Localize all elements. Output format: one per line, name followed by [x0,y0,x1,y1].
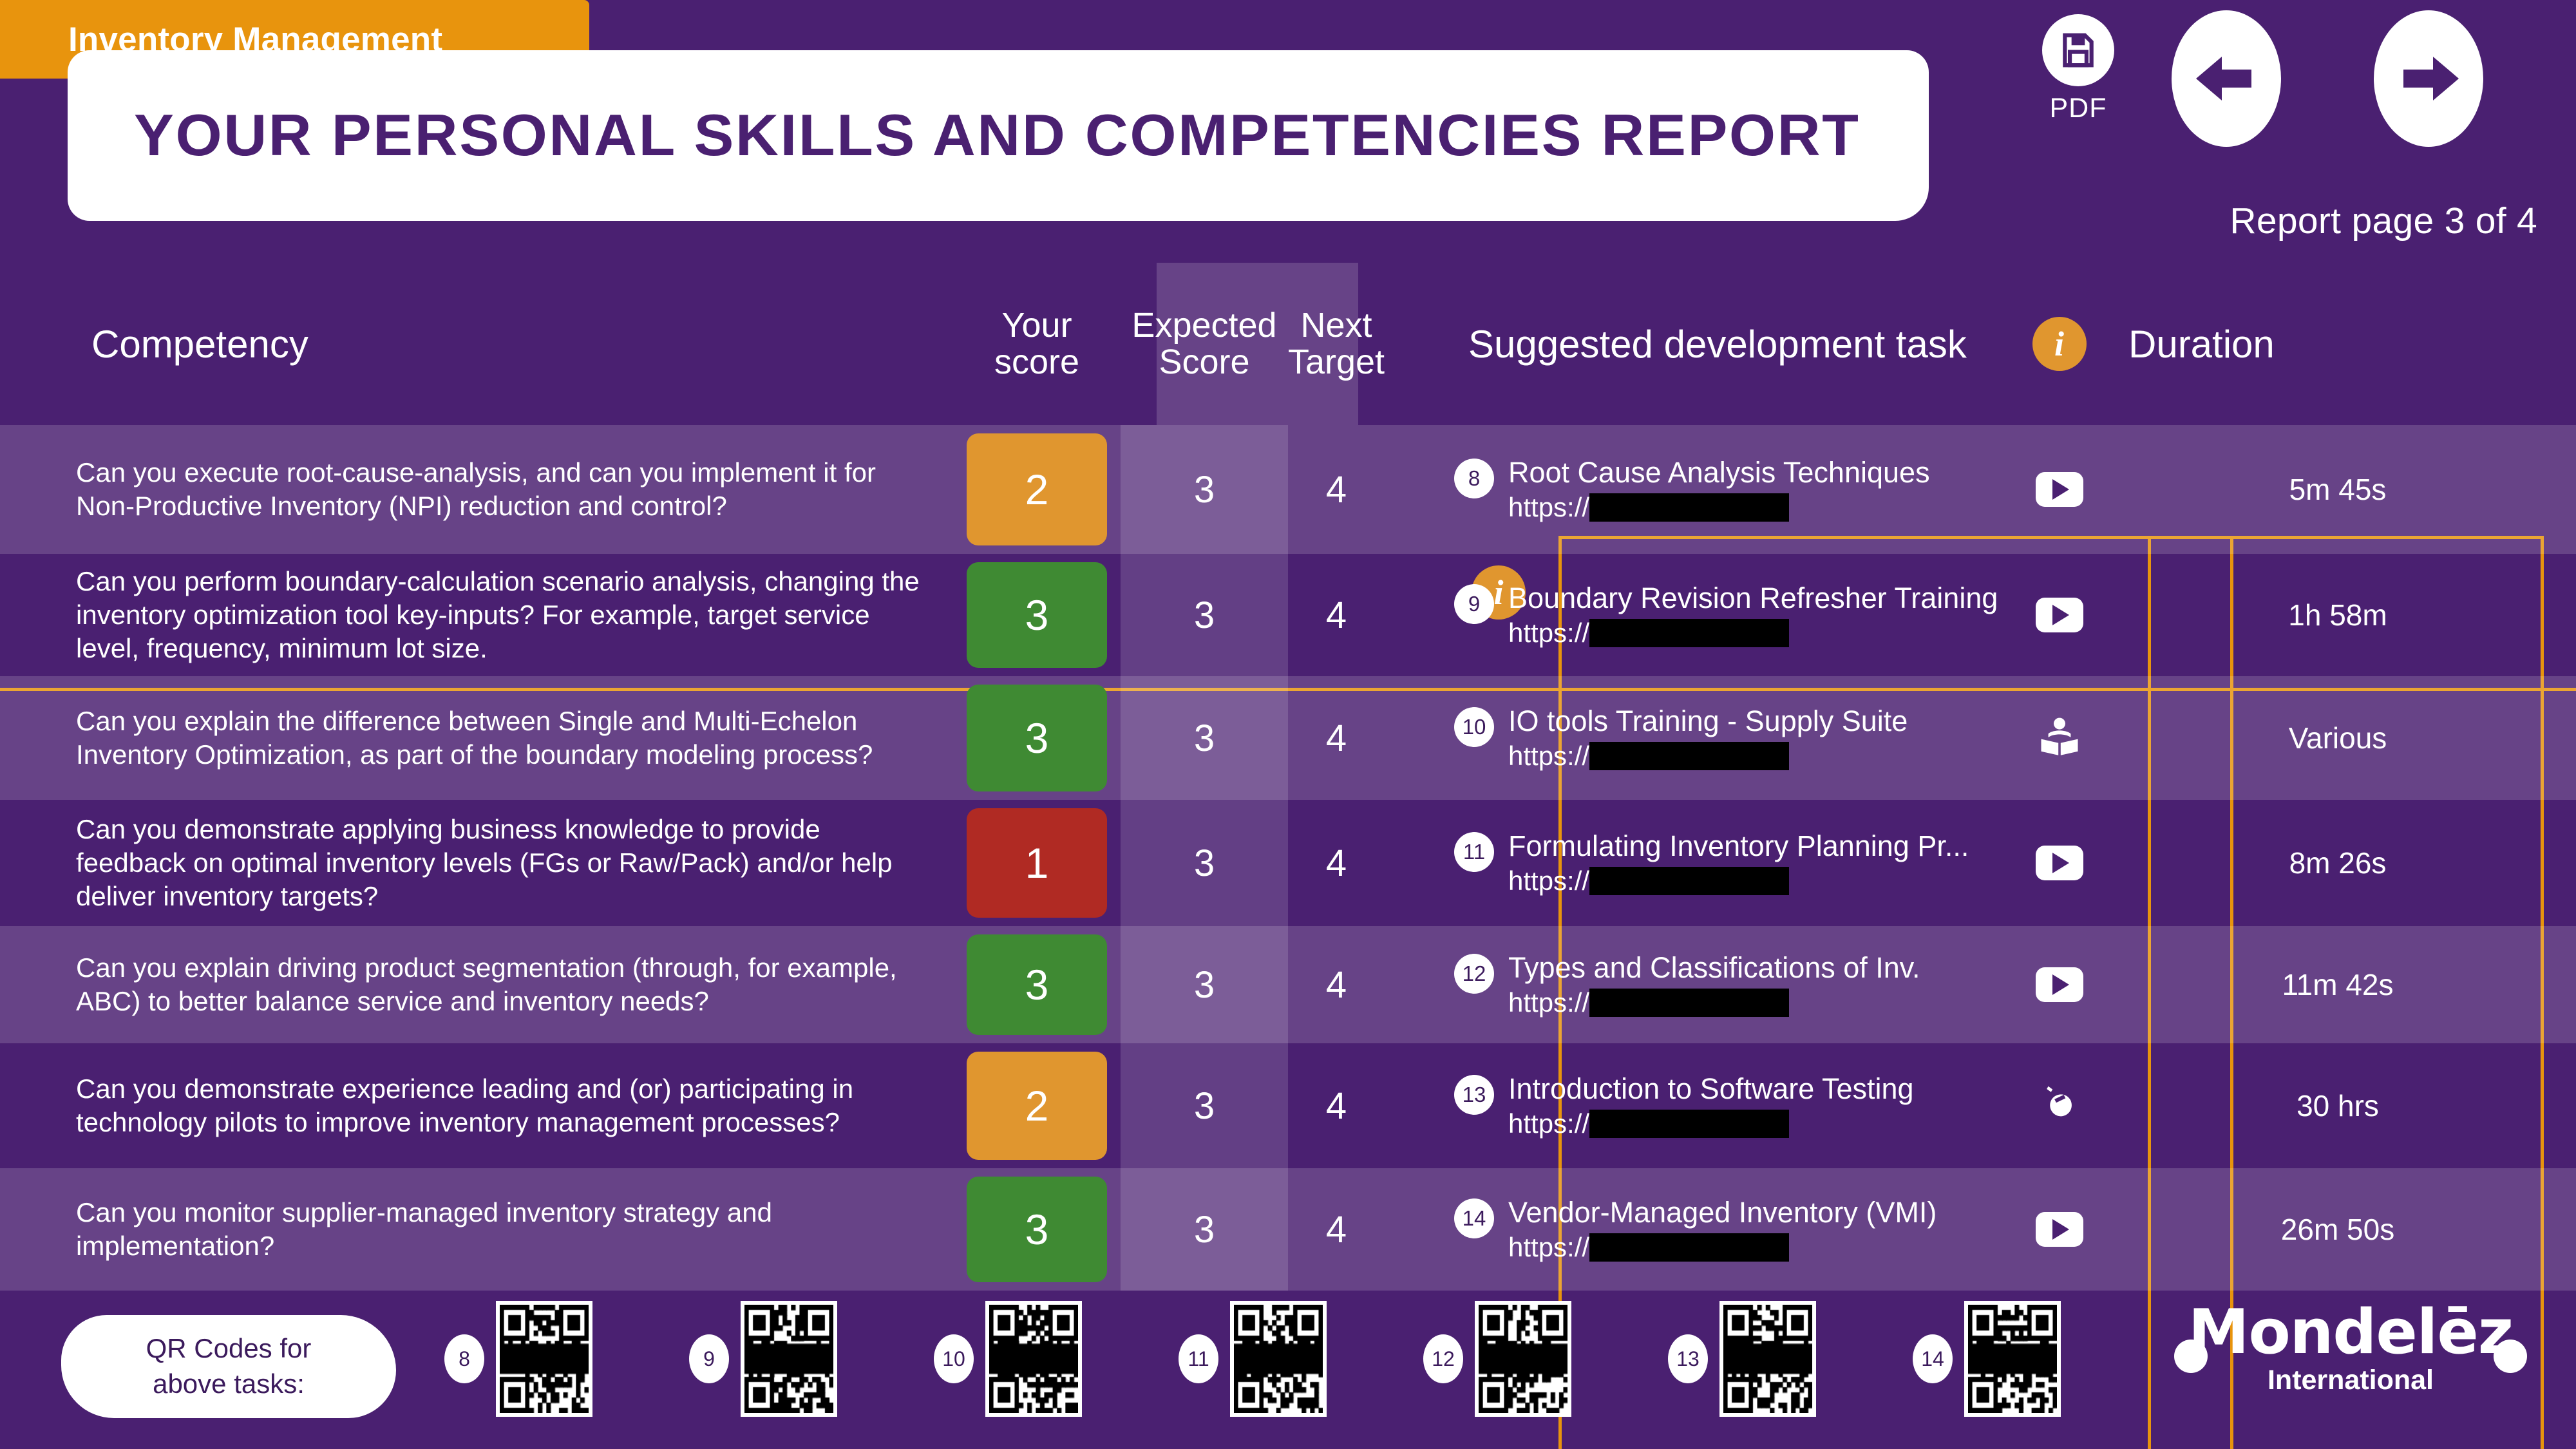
qr-code-image[interactable] [741,1301,837,1417]
column-header-duration: Duration [2099,263,2576,425]
pdf-label: PDF [2017,93,2139,124]
cell-next-target: 4 [1288,1168,1385,1291]
competency-text: Can you perform boundary-calculation sce… [76,565,933,665]
task-url[interactable]: https:// [1508,618,1998,649]
elearning-reader-icon[interactable] [2036,714,2083,763]
task-url-protocol: https:// [1508,1232,1589,1263]
task-url-redaction [1589,493,1789,522]
video-play-icon[interactable] [2036,846,2083,880]
play-triangle [2052,974,2069,995]
cell-duration: 11m 42s [2099,926,2576,1043]
column-header-your-score: Your score [953,263,1121,425]
task-title[interactable]: Root Cause Analysis Techniques [1508,456,1930,489]
cell-task-type [2019,926,2099,1043]
qr-code-item: 8 [444,1301,592,1417]
cell-task[interactable]: 9Boundary Revision Refresher Traininghtt… [1430,554,2019,676]
task-title[interactable]: Introduction to Software Testing [1508,1072,1914,1106]
page-title: YOUR PERSONAL SKILLS AND COMPETENCIES RE… [50,102,1860,169]
cell-task[interactable]: 8Root Cause Analysis Techniqueshttps:// [1430,425,2019,554]
cell-next-target: 4 [1288,554,1385,676]
cell-your-score: 2 [953,425,1121,554]
task-number-badge: 9 [1454,584,1494,624]
task-url-redaction [1589,742,1789,770]
qr-canvas [744,1305,833,1413]
play-triangle [2052,605,2069,625]
qr-code-item: 12 [1423,1301,1571,1417]
task-url-redaction [1589,1110,1789,1138]
task-url-protocol: https:// [1508,741,1589,772]
task-url[interactable]: https:// [1508,987,1920,1018]
table-body: Can you execute root-cause-analysis, and… [0,425,2576,1291]
your-score-badge: 3 [967,685,1107,791]
cell-expected-score: 3 [1121,800,1288,926]
cell-your-score: 3 [953,926,1121,1043]
cell-task[interactable]: 13Introduction to Software Testinghttps:… [1430,1043,2019,1168]
column-header-task: Suggested development task [1430,263,2019,425]
cell-competency: Can you execute root-cause-analysis, and… [0,425,953,554]
task-number-badge: 14 [1454,1198,1494,1238]
arrow-left-icon [2172,10,2281,147]
download-pdf-button[interactable]: PDF [2017,14,2139,124]
cell-task-type [2019,800,2099,926]
cell-duration: 5m 45s [2099,425,2576,554]
task-title[interactable]: Boundary Revision Refresher Training [1508,582,1998,615]
cell-task[interactable]: 11Formulating Inventory Planning Pr...ht… [1430,800,2019,926]
your-score-badge: 3 [967,934,1107,1035]
task-url[interactable]: https:// [1508,741,1908,772]
cell-expected-score: 3 [1121,1168,1288,1291]
task-text: IO tools Training - Supply Suitehttps:// [1508,705,1908,772]
column-header-task-type: i [2019,263,2099,425]
task-text: Boundary Revision Refresher Traininghttp… [1508,582,1998,649]
cell-task[interactable]: 10IO tools Training - Supply Suitehttps:… [1430,676,2019,800]
qr-code-item: 13 [1668,1301,1816,1417]
cell-expected-score: 3 [1121,425,1288,554]
cell-your-score: 3 [953,1168,1121,1291]
cell-competency: Can you monitor supplier-managed invento… [0,1168,953,1291]
cell-next-target: 4 [1288,800,1385,926]
play-triangle [2052,479,2069,500]
task-number-badge: 11 [1454,832,1494,872]
logo-dot-right [2494,1340,2527,1373]
task-url-protocol: https:// [1508,987,1589,1018]
cell-duration: 30 hrs [2099,1043,2576,1168]
cell-task[interactable]: 12Types and Classifications of Inv.https… [1430,926,2019,1043]
qr-label-line1: QR Codes for [146,1331,312,1367]
qr-canvas [1723,1305,1812,1413]
table-row: Can you monitor supplier-managed invento… [0,1168,2576,1291]
title-card: YOUR PERSONAL SKILLS AND COMPETENCIES RE… [68,50,1929,221]
task-inner: 10IO tools Training - Supply Suitehttps:… [1454,705,2019,772]
task-text: Root Cause Analysis Techniqueshttps:// [1508,456,1930,523]
task-text: Types and Classifications of Inv.https:/… [1508,951,1920,1018]
task-number-badge: 10 [1454,707,1494,747]
cell-next-target: 4 [1288,425,1385,554]
cell-task-type [2019,554,2099,676]
page-header: Inventory Management YOUR PERSONAL SKILL… [0,0,2576,270]
qr-canvas [500,1305,589,1413]
competency-text: Can you demonstrate experience leading a… [76,1072,933,1139]
cell-next-target: 4 [1288,926,1385,1043]
cell-next-target: 4 [1288,1043,1385,1168]
cell-duration: 1h 58m [2099,554,2576,676]
task-text: Formulating Inventory Planning Pr...http… [1508,829,1969,896]
column-header-next-target: Next Target [1288,263,1385,425]
table-row: Can you demonstrate applying business kn… [0,800,2576,926]
video-play-icon[interactable] [2036,472,2083,507]
competency-text: Can you explain driving product segmenta… [76,951,933,1018]
task-number-badge: 12 [1454,954,1494,994]
table-row: Can you explain the difference between S… [0,676,2576,800]
task-title[interactable]: Formulating Inventory Planning Pr... [1508,829,1969,863]
task-url-protocol: https:// [1508,492,1589,523]
row-spacer [1385,1168,1430,1291]
cell-task-type [2019,425,2099,554]
qr-number-badge: 12 [1423,1334,1463,1383]
qr-code-image[interactable] [985,1301,1082,1417]
task-inner: 13Introduction to Software Testinghttps:… [1454,1072,2019,1139]
row-spacer [1385,676,1430,800]
table-row: Can you explain driving product segmenta… [0,926,2576,1043]
cell-competency: Can you explain the difference between S… [0,676,953,800]
qr-canvas [1234,1305,1323,1413]
task-url-redaction [1589,867,1789,895]
table-row: Can you demonstrate experience leading a… [0,1043,2576,1168]
qr-number-badge: 8 [444,1334,484,1383]
task-text: Vendor-Managed Inventory (VMI)https:// [1508,1196,1937,1263]
column-header-competency: Competency [0,263,953,425]
task-title[interactable]: Vendor-Managed Inventory (VMI) [1508,1196,1937,1229]
play-triangle [2052,1219,2069,1240]
task-inner: 11Formulating Inventory Planning Pr...ht… [1454,829,2019,896]
task-inner: 14Vendor-Managed Inventory (VMI)https:// [1454,1196,2019,1263]
qr-canvas [989,1305,1078,1413]
cell-task-type [2019,1043,2099,1168]
arrow-right-icon [2374,10,2483,147]
task-title[interactable]: IO tools Training - Supply Suite [1508,705,1908,738]
qr-code-image[interactable] [1475,1301,1571,1417]
qr-number-badge: 13 [1668,1334,1708,1383]
task-url-redaction [1589,619,1789,647]
task-url[interactable]: https:// [1508,866,1969,896]
header-spacer [1385,263,1430,425]
report-page: Inventory Management YOUR PERSONAL SKILL… [0,0,2576,1449]
cell-competency: Can you demonstrate applying business kn… [0,800,953,926]
row-spacer [1385,926,1430,1043]
qr-section-label: QR Codes for above tasks: [61,1315,396,1418]
row-spacer [1385,1043,1430,1168]
task-text: Introduction to Software Testinghttps:// [1508,1072,1914,1139]
qr-number-badge: 9 [689,1334,729,1383]
video-play-icon[interactable] [2036,1212,2083,1247]
task-url-protocol: https:// [1508,1108,1589,1139]
qr-code-item: 10 [934,1301,1082,1417]
cell-duration: 8m 26s [2099,800,2576,926]
task-title[interactable]: Types and Classifications of Inv. [1508,951,1920,985]
task-number-badge: 13 [1454,1075,1494,1115]
cell-competency: Can you perform boundary-calculation sce… [0,554,953,676]
qr-number-badge: 11 [1179,1334,1218,1383]
task-number-badge: 8 [1454,459,1494,498]
competency-text: Can you monitor supplier-managed invento… [76,1196,933,1263]
competency-text: Can you explain the difference between S… [76,705,933,772]
cell-task[interactable]: 14Vendor-Managed Inventory (VMI)https:// [1430,1168,2019,1291]
qr-code-image[interactable] [496,1301,592,1417]
competency-table: Competency Your score Expected Score Nex… [0,263,2576,1291]
page-footer: QR Codes for above tasks: 891011121314 M… [0,1282,2576,1449]
qr-number-badge: 10 [934,1334,974,1383]
logo-subtitle: International [2170,1365,2531,1396]
row-spacer [1385,554,1430,676]
qr-code-image[interactable] [1230,1301,1327,1417]
qr-code-image[interactable] [1719,1301,1816,1417]
cell-your-score: 3 [953,676,1121,800]
table-row: Can you perform boundary-calculation sce… [0,554,2576,676]
competency-text: Can you execute root-cause-analysis, and… [76,456,933,523]
cell-expected-score: 3 [1121,676,1288,800]
mouse-click-icon[interactable] [2036,1081,2083,1131]
task-inner: 12Types and Classifications of Inv.https… [1454,951,2019,1018]
save-disk-icon [2042,14,2114,86]
qr-canvas [1968,1305,2057,1413]
your-score-badge: 2 [967,433,1107,545]
your-score-badge: 1 [967,808,1107,918]
next-page-button[interactable] [2374,10,2483,147]
mondelez-logo: Mondelēz International [2170,1302,2531,1396]
task-url-protocol: https:// [1508,618,1589,649]
task-url-redaction [1589,1233,1789,1262]
video-play-icon[interactable] [2036,967,2083,1002]
task-url[interactable]: https:// [1508,492,1930,523]
cell-competency: Can you explain driving product segmenta… [0,926,953,1043]
logo-brand: Mondelēz [2170,1302,2531,1363]
play-triangle [2052,853,2069,873]
task-url[interactable]: https:// [1508,1108,1914,1139]
row-spacer [1385,800,1430,926]
cell-expected-score: 3 [1121,554,1288,676]
your-score-badge: 3 [967,1177,1107,1282]
table-row: Can you execute root-cause-analysis, and… [0,425,2576,554]
row-spacer [1385,425,1430,554]
task-url-redaction [1589,989,1789,1017]
qr-code-item: 14 [1913,1301,2061,1417]
qr-code-item: 11 [1179,1301,1327,1417]
previous-page-button[interactable] [2172,10,2281,147]
your-score-badge: 2 [967,1052,1107,1160]
video-play-icon[interactable] [2036,598,2083,632]
your-score-badge: 3 [967,562,1107,668]
qr-label-line2: above tasks: [153,1367,305,1402]
cell-task-type [2019,1168,2099,1291]
cell-expected-score: 3 [1121,1043,1288,1168]
qr-code-image[interactable] [1964,1301,2061,1417]
task-inner: 9Boundary Revision Refresher Traininghtt… [1454,582,2019,649]
table-header-row: Competency Your score Expected Score Nex… [0,263,2576,425]
cell-next-target: 4 [1288,676,1385,800]
qr-canvas [1479,1305,1567,1413]
cell-your-score: 2 [953,1043,1121,1168]
cell-your-score: 3 [953,554,1121,676]
cell-task-type [2019,676,2099,800]
qr-number-badge: 14 [1913,1334,1953,1383]
competency-text: Can you demonstrate applying business kn… [76,813,933,913]
info-icon[interactable]: i [2032,317,2087,371]
cell-expected-score: 3 [1121,926,1288,1043]
qr-code-item: 9 [689,1301,837,1417]
cell-duration: 26m 50s [2099,1168,2576,1291]
task-url-protocol: https:// [1508,866,1589,896]
cell-competency: Can you demonstrate experience leading a… [0,1043,953,1168]
task-inner: 8Root Cause Analysis Techniqueshttps:// [1454,456,2019,523]
page-indicator: Report page 3 of 4 [2230,200,2537,242]
cell-your-score: 1 [953,800,1121,926]
cell-duration: Various [2099,676,2576,800]
logo-dot-left [2174,1340,2208,1373]
task-url[interactable]: https:// [1508,1232,1937,1263]
